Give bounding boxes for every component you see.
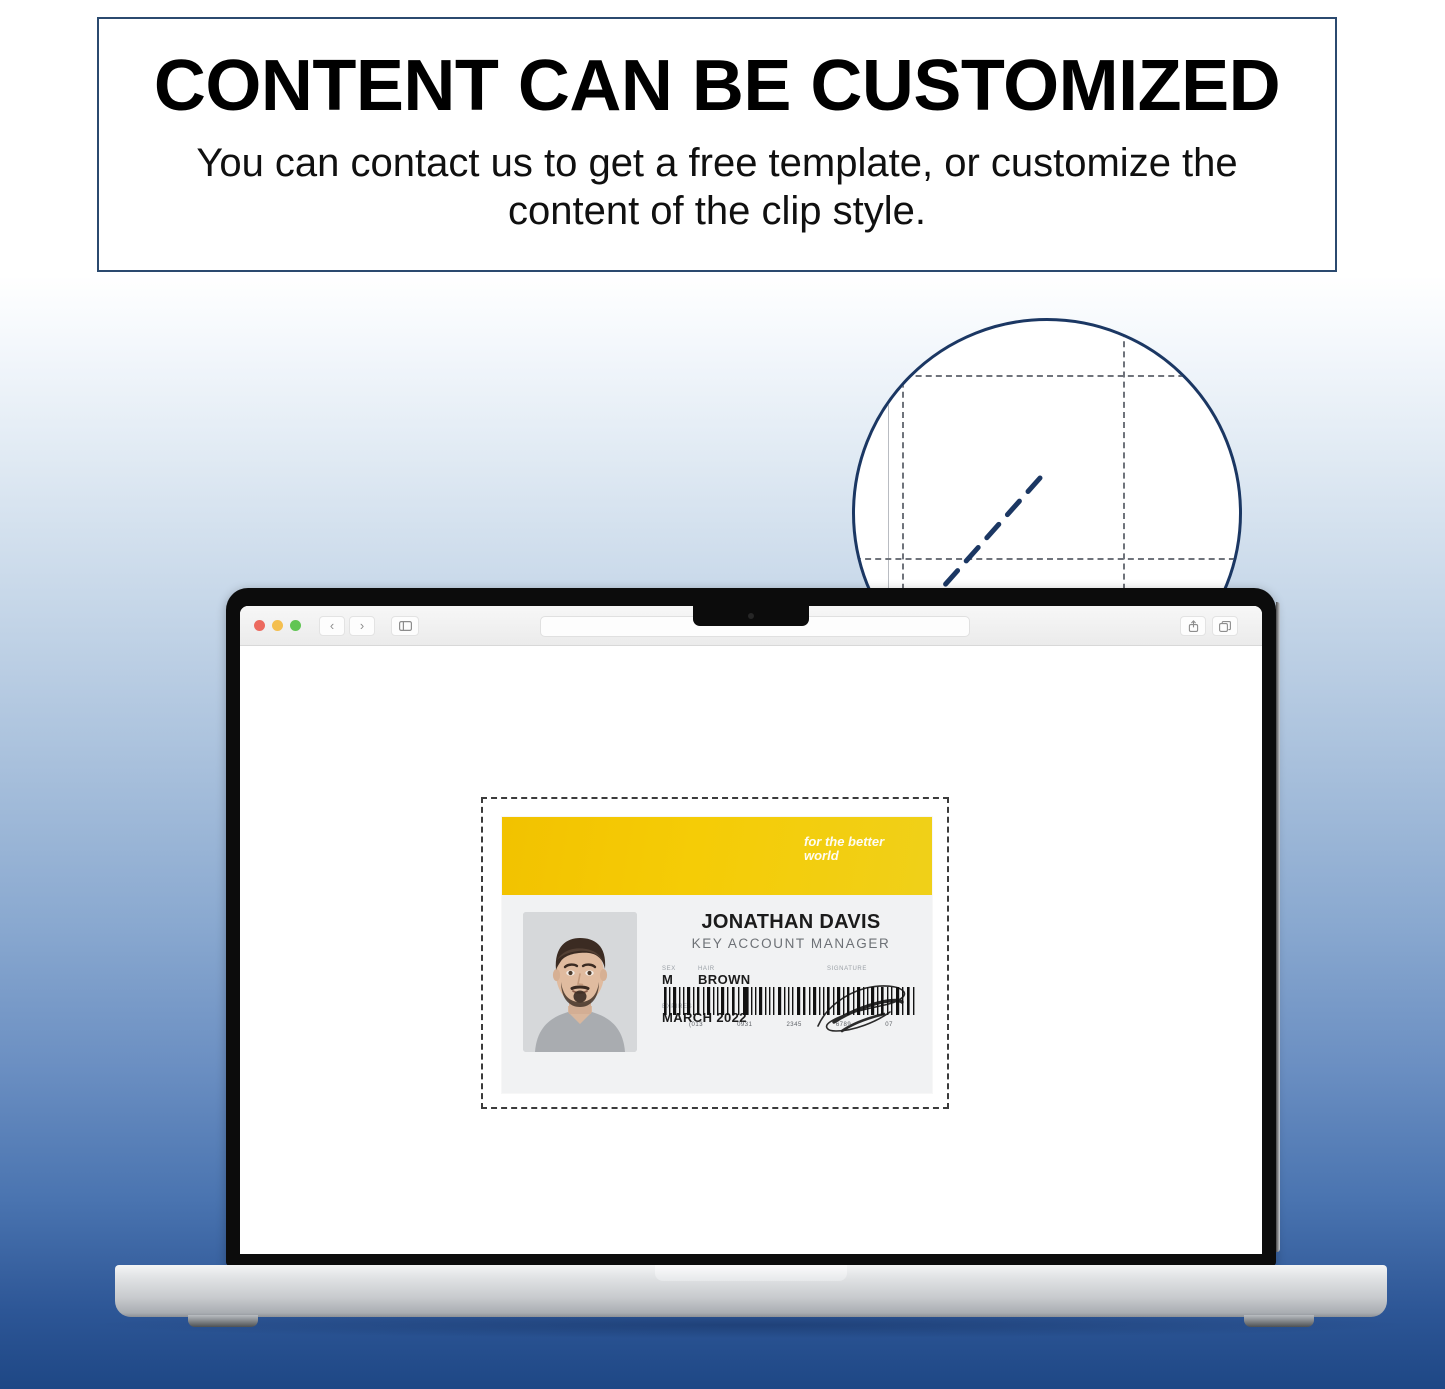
laptop-base-notch [655,1265,847,1281]
laptop-foot-left [188,1315,258,1327]
barcode-digits: (013 0931 2345 6789 07 [662,1022,920,1028]
webcam-icon [748,613,754,619]
forward-icon[interactable]: › [349,616,375,636]
field-sex-value: M [662,972,676,987]
share-glyph [1188,620,1199,632]
barcode-digit: 6789 [836,1022,851,1028]
magnifier-dashed-horizontal-2 [855,558,1242,560]
field-signature: SIGNATURE [827,966,867,972]
tabs-icon[interactable] [1212,616,1238,636]
laptop-foot-right [1244,1315,1314,1327]
magnifier-dashed-horizontal-1 [855,375,1242,377]
id-card: for the better world [502,817,932,1093]
card-holder-role: KEY ACCOUNT MANAGER [662,936,920,951]
card-selection-outline[interactable]: for the better world [481,797,949,1109]
barcode-digit: 2345 [786,1022,801,1028]
poster-canvas: CONTENT CAN BE CUSTOMIZED You can contac… [0,0,1445,1389]
webcam-notch [693,606,809,626]
nav-buttons: ‹ › [319,616,375,636]
card-holder-name: JONATHAN DAVIS [662,911,920,933]
barcode: (013 0931 2345 6789 07 [662,987,920,1028]
minimize-dot[interactable] [272,620,283,631]
back-icon[interactable]: ‹ [319,616,345,636]
barcode-digit: (013 [689,1022,703,1028]
card-body: JONATHAN DAVIS KEY ACCOUNT MANAGER SEX M… [502,895,932,1093]
sidebar-glyph [399,621,412,631]
headline-banner: CONTENT CAN BE CUSTOMIZED You can contac… [97,17,1337,272]
portrait-photo [523,912,637,1052]
barcode-digit: 0931 [737,1022,752,1028]
field-hair-value: BROWN [698,972,751,987]
field-signature-label: SIGNATURE [827,966,867,972]
tabs-glyph [1219,621,1231,632]
barcode-icon [662,987,920,1015]
page-subtitle: You can contact us to get a free templat… [152,139,1282,235]
avatar [523,912,637,1052]
toolbar-right-icons [1180,616,1238,636]
window-controls[interactable] [254,620,301,631]
laptop-base [115,1265,1387,1317]
share-icon[interactable] [1180,616,1206,636]
card-slogan: for the better world [804,835,914,864]
sidebar-icon[interactable] [391,616,419,636]
barcode-digit: 07 [885,1022,893,1028]
close-dot[interactable] [254,620,265,631]
field-sex: SEX M [662,966,676,987]
card-header-band: for the better world [502,817,932,895]
maximize-dot[interactable] [290,620,301,631]
page-title: CONTENT CAN BE CUSTOMIZED [154,49,1280,125]
field-hair: HAIR BROWN [698,966,751,987]
card-info: JONATHAN DAVIS KEY ACCOUNT MANAGER SEX M… [662,911,920,1042]
